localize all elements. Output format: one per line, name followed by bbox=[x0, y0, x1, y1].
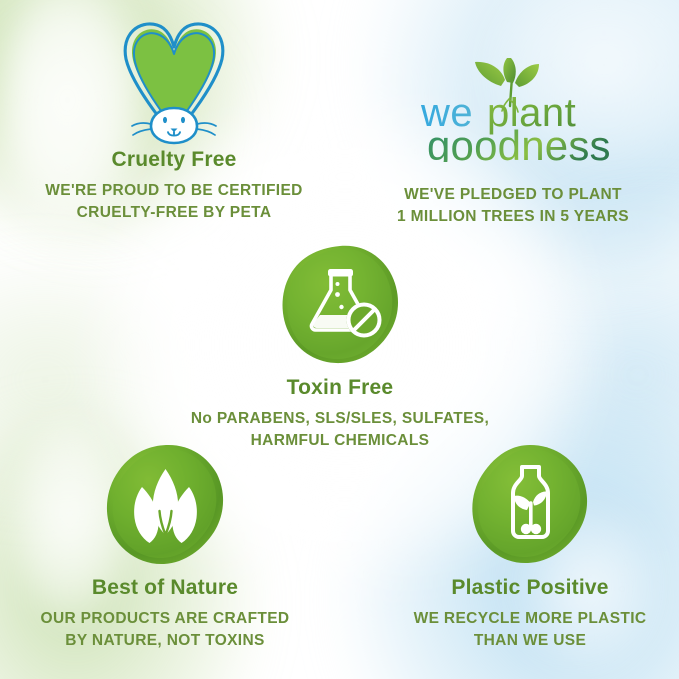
badge-description-line: BY NATURE, NOT TOXINS bbox=[5, 630, 325, 652]
bottle-sprout-icon bbox=[469, 443, 592, 566]
brand-promise-infographic: Cruelty Free WE'RE PROUD TO BE CERTIFIED… bbox=[0, 0, 679, 679]
badge-description-best-of-nature: OUR PRODUCTS ARE CRAFTED BY NATURE, NOT … bbox=[5, 608, 325, 652]
badge-description-line: THAN WE USE bbox=[370, 630, 679, 652]
badge-title-toxin-free: Toxin Free bbox=[180, 376, 500, 400]
badge-description-line: WE'VE PLEDGED TO PLANT bbox=[358, 184, 668, 206]
badge-description-we-plant-goodness: WE'VE PLEDGED TO PLANT 1 MILLION TREES I… bbox=[358, 184, 668, 228]
flask-no-entry-icon bbox=[279, 243, 402, 366]
badge-description-line: CRUELTY-FREE BY PETA bbox=[14, 202, 334, 224]
badge-description-line: WE RECYCLE MORE PLASTIC bbox=[370, 608, 679, 630]
badge-best-of-nature: Best of Nature OUR PRODUCTS ARE CRAFTED … bbox=[5, 443, 325, 652]
badge-description-line: 1 MILLION TREES IN 5 YEARS bbox=[358, 206, 668, 228]
badge-we-plant-goodness: we plant goodness WE'VE PLEDGED TO PLANT… bbox=[358, 58, 668, 228]
peta-bunny-heart-logo bbox=[115, 16, 233, 148]
badge-cruelty-free: Cruelty Free WE'RE PROUD TO BE CERTIFIED… bbox=[14, 16, 334, 224]
leaves-icon bbox=[104, 443, 227, 566]
badge-title-plastic-positive: Plastic Positive bbox=[370, 576, 679, 600]
we-plant-goodness-logo: we plant goodness bbox=[415, 58, 611, 162]
best-of-nature-blob bbox=[104, 443, 227, 566]
badge-plastic-positive: Plastic Positive WE RECYCLE MORE PLASTIC… bbox=[370, 443, 679, 652]
badge-title-cruelty-free: Cruelty Free bbox=[14, 148, 334, 172]
badge-description-line: OUR PRODUCTS ARE CRAFTED bbox=[5, 608, 325, 630]
toxin-free-blob bbox=[279, 243, 402, 366]
badge-description-plastic-positive: WE RECYCLE MORE PLASTIC THAN WE USE bbox=[370, 608, 679, 652]
plastic-positive-blob bbox=[469, 443, 592, 566]
badge-description-line: No PARABENS, SLS/SLES, SULFATES, bbox=[180, 408, 500, 430]
badge-description-cruelty-free: WE'RE PROUD TO BE CERTIFIED CRUELTY-FREE… bbox=[14, 180, 334, 224]
badge-grid: Cruelty Free WE'RE PROUD TO BE CERTIFIED… bbox=[0, 0, 679, 679]
logo-word-goodness: goodness bbox=[427, 122, 611, 162]
badge-title-best-of-nature: Best of Nature bbox=[5, 576, 325, 600]
badge-description-line: WE'RE PROUD TO BE CERTIFIED bbox=[14, 180, 334, 202]
badge-toxin-free: Toxin Free No PARABENS, SLS/SLES, SULFAT… bbox=[180, 243, 500, 452]
